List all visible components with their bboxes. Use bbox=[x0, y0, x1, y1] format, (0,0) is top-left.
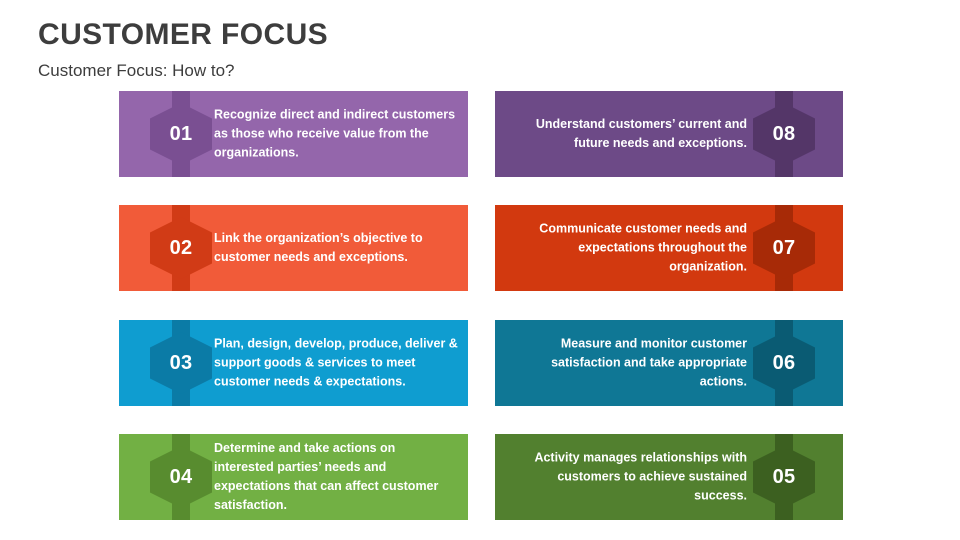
step-description: Link the organization’s objective to cus… bbox=[214, 229, 458, 267]
slide-canvas: CUSTOMER FOCUS Customer Focus: How to? 0… bbox=[0, 0, 960, 540]
step-card-04[interactable]: 04 Determine and take actions on interes… bbox=[119, 434, 468, 520]
step-number: 05 bbox=[753, 465, 815, 489]
step-description: Activity manages relationships with cust… bbox=[505, 449, 747, 506]
step-number: 07 bbox=[753, 236, 815, 260]
step-description: Measure and monitor customer satisfactio… bbox=[505, 335, 747, 392]
step-card-01[interactable]: 01 Recognize direct and indirect custome… bbox=[119, 91, 468, 177]
step-number-badge: 08 bbox=[753, 91, 815, 177]
step-card-08[interactable]: 08 Understand customers’ current and fut… bbox=[495, 91, 843, 177]
step-card-07[interactable]: 07 Communicate customer needs and expect… bbox=[495, 205, 843, 291]
step-number: 02 bbox=[150, 236, 212, 260]
step-description: Understand customers’ current and future… bbox=[505, 115, 747, 153]
step-number-badge: 05 bbox=[753, 434, 815, 520]
step-number: 03 bbox=[150, 351, 212, 375]
step-number-badge: 01 bbox=[150, 91, 212, 177]
step-number-badge: 07 bbox=[753, 205, 815, 291]
step-number: 08 bbox=[753, 122, 815, 146]
step-description: Recognize direct and indirect customers … bbox=[214, 106, 458, 163]
step-number-badge: 03 bbox=[150, 320, 212, 406]
step-number-badge: 06 bbox=[753, 320, 815, 406]
step-description: Communicate customer needs and expectati… bbox=[505, 220, 747, 277]
step-card-05[interactable]: 05 Activity manages relationships with c… bbox=[495, 434, 843, 520]
step-number: 06 bbox=[753, 351, 815, 375]
step-description: Plan, design, develop, produce, deliver … bbox=[214, 335, 458, 392]
page-subtitle: Customer Focus: How to? bbox=[38, 60, 235, 82]
step-card-06[interactable]: 06 Measure and monitor customer satisfac… bbox=[495, 320, 843, 406]
step-card-02[interactable]: 02 Link the organization’s objective to … bbox=[119, 205, 468, 291]
step-number-badge: 02 bbox=[150, 205, 212, 291]
step-number: 04 bbox=[150, 465, 212, 489]
step-number-badge: 04 bbox=[150, 434, 212, 520]
step-card-03[interactable]: 03 Plan, design, develop, produce, deliv… bbox=[119, 320, 468, 406]
step-description: Determine and take actions on interested… bbox=[214, 439, 458, 515]
page-title: CUSTOMER FOCUS bbox=[38, 18, 328, 52]
step-number: 01 bbox=[150, 122, 212, 146]
